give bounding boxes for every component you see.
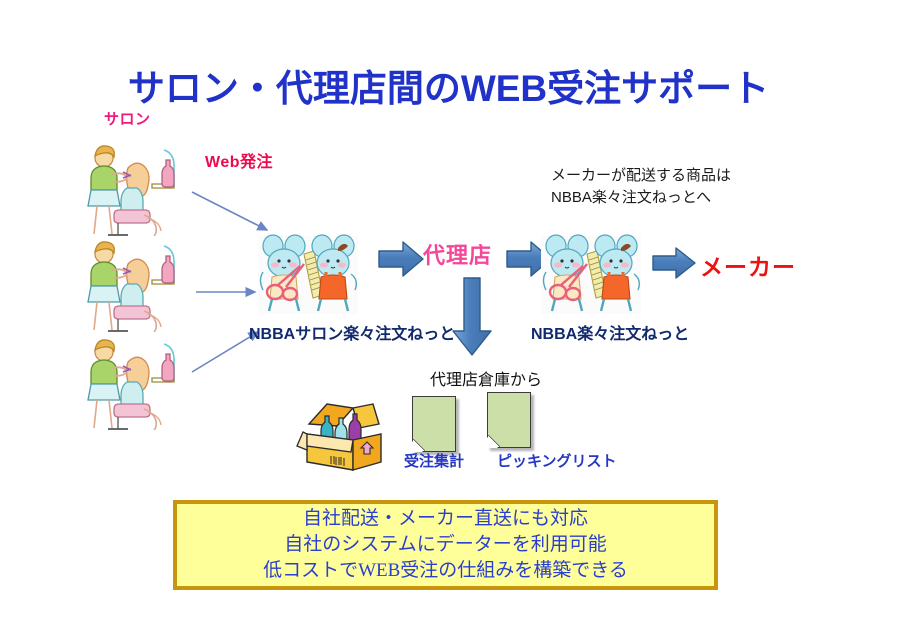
- salon-illustration: [78, 132, 186, 236]
- nbba-salon-net-label: NBBAサロン楽々注文ねっと: [249, 320, 455, 344]
- web-order-label: Web発注: [205, 148, 273, 172]
- open-box-illustration: [293, 398, 393, 472]
- callout-line: 自社配送・メーカー直送にも対応: [303, 506, 588, 532]
- block-arrow-right-icon: [378, 240, 424, 278]
- page-title: サロン・代理店間のWEB受注サポート: [0, 58, 897, 112]
- thin-arrow-icon: [192, 192, 267, 230]
- order-summary-label: 受注集計: [404, 450, 464, 471]
- salon-label: サロン: [104, 108, 151, 129]
- warehouse-label: 代理店倉庫から: [430, 366, 542, 390]
- salon-illustration: [78, 326, 186, 430]
- mouse-mascot-illustration: [539, 232, 643, 316]
- document-page-icon: [412, 396, 456, 452]
- nbba-net-label: NBBA楽々注文ねっと: [531, 320, 689, 344]
- maker-delivery-note: メーカーが配送する商品は NBBA楽々注文ねっとへ: [551, 165, 731, 209]
- mouse-mascot-illustration: [256, 232, 360, 316]
- agency-label: 代理店: [423, 238, 492, 270]
- block-arrow-down-icon: [451, 277, 493, 357]
- document-page-icon: [487, 392, 531, 448]
- summary-callout-box: 自社配送・メーカー直送にも対応 自社のシステムにデーターを利用可能 低コストでW…: [173, 500, 718, 590]
- callout-line: 自社のシステムにデーターを利用可能: [284, 532, 606, 558]
- callout-line: 低コストでWEB受注の仕組みを構築できる: [263, 558, 628, 584]
- slide-canvas: サロン・代理店間のWEB受注サポート サロン Web発注: [0, 0, 897, 634]
- picking-list-label: ピッキングリスト: [497, 450, 617, 471]
- salon-illustration: [78, 228, 186, 332]
- block-arrow-right-icon: [652, 246, 696, 280]
- maker-label: メーカー: [700, 248, 796, 282]
